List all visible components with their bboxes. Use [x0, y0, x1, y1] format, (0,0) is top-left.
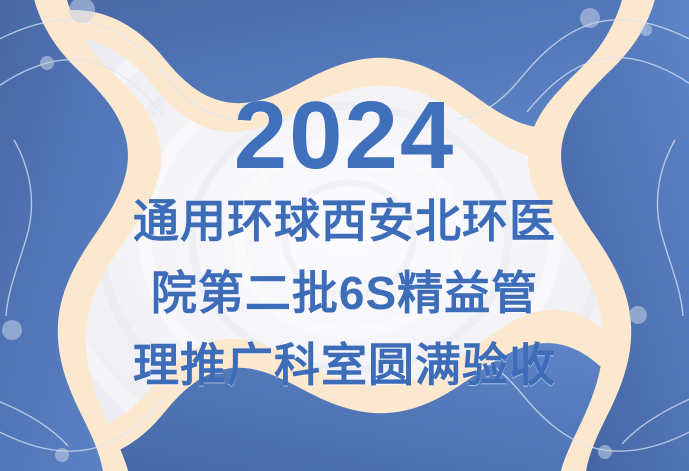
poster-headline-line-3: 理推广科室圆满验收	[133, 342, 556, 388]
poster-root: 2024 通用环球西安北环医 院第二批6S精益管 理推广科室圆满验收	[0, 0, 689, 471]
poster-year: 2024	[234, 88, 456, 184]
poster-headline-line-1: 通用环球西安北环医	[133, 198, 556, 244]
poster-text-stack: 2024 通用环球西安北环医 院第二批6S精益管 理推广科室圆满验收	[0, 0, 689, 471]
poster-headline-line-2: 院第二批6S精益管	[151, 270, 538, 316]
